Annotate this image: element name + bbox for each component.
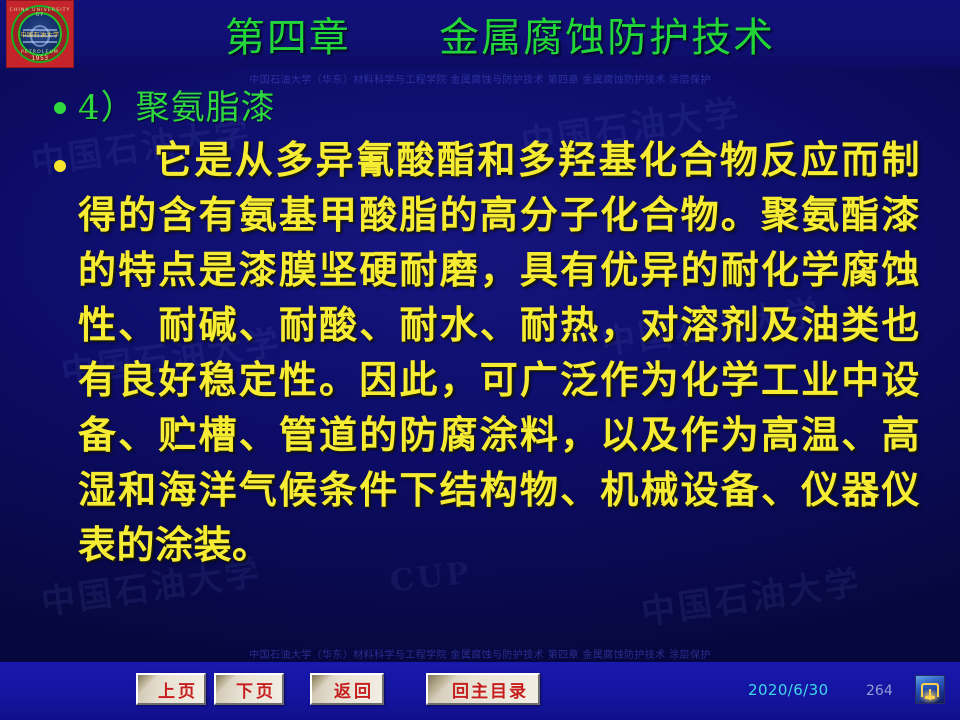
slide-body: 4）聚氨脂漆 它是从多异氰酸酯和多羟基化合物反应而制得的含有氨基甲酸脂的高分子化… [0, 84, 960, 640]
body-paragraph: 它是从多异氰酸酯和多羟基化合物反应而制得的含有氨基甲酸脂的高分子化合物。聚氨酯漆… [78, 132, 934, 572]
trophy-icon[interactable] [915, 675, 945, 704]
heading-bullet-row: 4）聚氨脂漆 [0, 84, 960, 132]
main-menu-label: 回主目录 [438, 677, 528, 702]
slide-canvas: 中国石油大学中国石油大学中国石油大学中国石油大学中国石油大学中国石油大学CUP … [0, 0, 960, 720]
chapter-title: 第四章 金属腐蚀防护技术 [0, 0, 960, 68]
footer-date: 2020/6/30 [748, 681, 829, 699]
bullet-dot-icon-green [54, 102, 66, 114]
prev-page-label: 上页 [144, 677, 198, 702]
paragraph-bullet-row: 它是从多异氰酸酯和多羟基化合物反应而制得的含有氨基甲酸脂的高分子化合物。聚氨酯漆… [0, 132, 960, 572]
bullet-dot-icon-yellow [54, 160, 66, 172]
footer-page-number: 264 [866, 683, 893, 699]
next-page-label: 下页 [222, 677, 276, 702]
main-menu-button[interactable]: 回主目录 [426, 673, 540, 705]
trophy-icon-base [925, 696, 935, 699]
slide-header: CHINA UNIVERSITY OF 中国石油大学 PETROLEUM 195… [0, 0, 960, 68]
slide-footer: 上页 下页 返回 回主目录 2020/6/30 264 [0, 662, 960, 720]
decorative-band-bottom: 中国石油大学（华东）材料科学与工程学院 金属腐蚀与防护技术 第四章 金属腐蚀防护… [0, 645, 960, 661]
return-label: 返回 [320, 677, 374, 702]
return-button[interactable]: 返回 [310, 673, 384, 705]
section-heading: 4）聚氨脂漆 [78, 84, 276, 132]
next-page-button[interactable]: 下页 [214, 673, 284, 705]
prev-page-button[interactable]: 上页 [136, 673, 206, 705]
